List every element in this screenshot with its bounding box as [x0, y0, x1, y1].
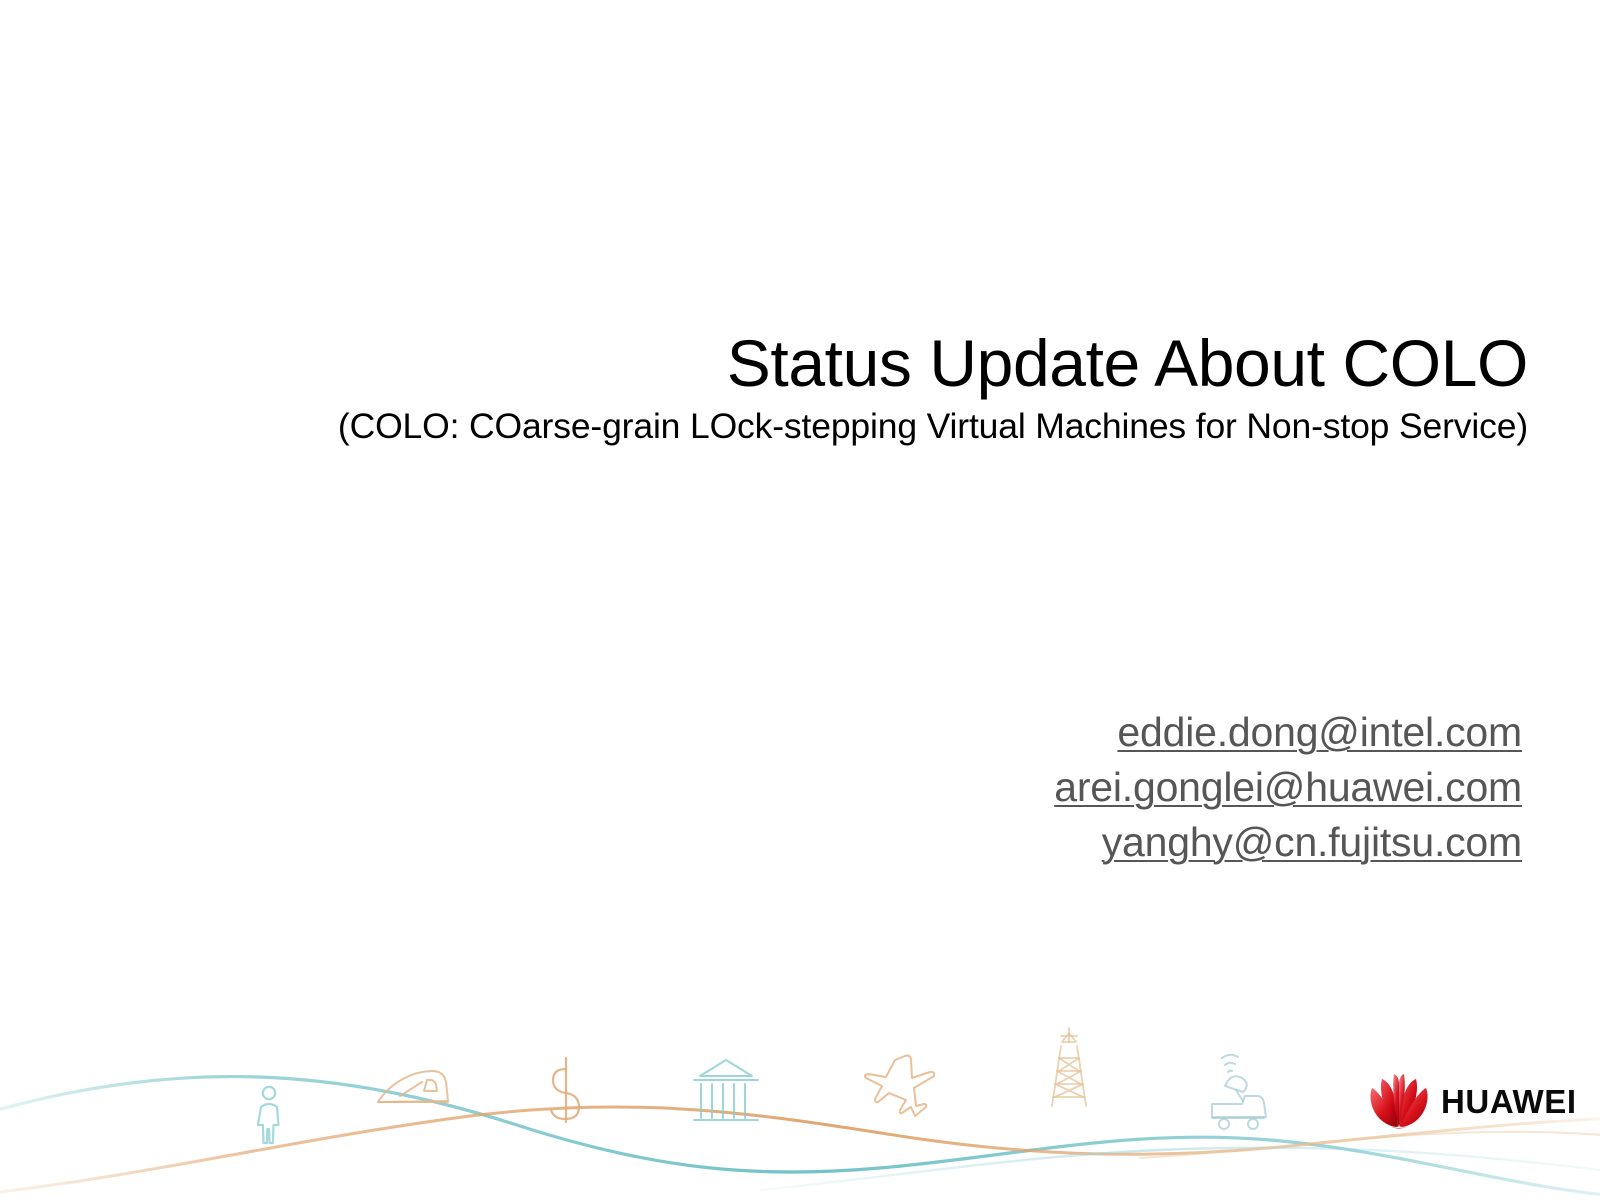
- teal-secondary-wave-path: [760, 1148, 1600, 1190]
- bank-building-icon: [694, 1060, 758, 1120]
- huawei-petal-mark: [1366, 1072, 1432, 1130]
- person-icon: [258, 1087, 279, 1143]
- page-title: Status Update About COLO: [0, 330, 1536, 397]
- high-speed-train-icon: [378, 1071, 448, 1102]
- huawei-logo: HUAWEI: [1366, 1068, 1566, 1134]
- presentation-slide: Status Update About COLO (COLO: COarse-g…: [0, 0, 1600, 1200]
- email-link-intel[interactable]: eddie.dong@intel.com: [0, 705, 1522, 760]
- orange-secondary-wave-path: [1140, 1132, 1600, 1158]
- dollar-sign-icon: [551, 1058, 579, 1122]
- orange-wave-path: [0, 1107, 1600, 1193]
- email-link-fujitsu[interactable]: yanghy@cn.fujitsu.com: [0, 815, 1522, 870]
- airplane-icon: [865, 1056, 934, 1117]
- satellite-truck-icon: [1212, 1055, 1266, 1129]
- page-subtitle: (COLO: COarse-grain LOck-stepping Virtua…: [0, 407, 1536, 447]
- title-block: Status Update About COLO (COLO: COarse-g…: [0, 330, 1536, 447]
- huawei-wordmark: HUAWEI: [1441, 1085, 1577, 1118]
- lattice-tower-icon: [1052, 1028, 1086, 1106]
- contact-list: eddie.dong@intel.com arei.gonglei@huawei…: [0, 705, 1522, 870]
- decorative-bottom-band: [0, 1000, 1600, 1200]
- teal-wave-path: [0, 1077, 1600, 1196]
- email-link-huawei[interactable]: arei.gonglei@huawei.com: [0, 760, 1522, 815]
